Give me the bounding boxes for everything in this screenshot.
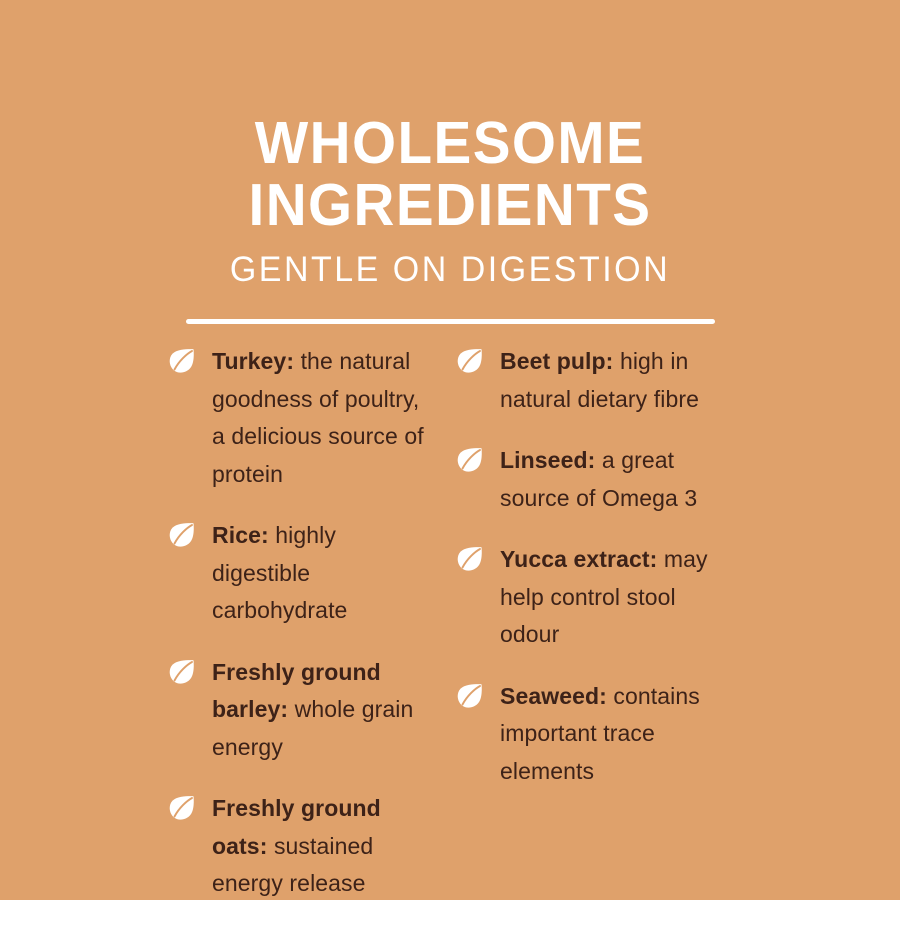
list-item-text: Turkey: the natural goodness of poultry,… bbox=[212, 343, 438, 493]
list-item: Seaweed: contains important trace elemen… bbox=[456, 678, 736, 791]
ingredients-column-right: Beet pulp: high in natural dietary fibre… bbox=[456, 343, 736, 814]
list-item: Freshly ground barley: whole grain energ… bbox=[168, 654, 438, 767]
list-item-text: Linseed: a great source of Omega 3 bbox=[500, 442, 736, 517]
ingredient-term: Rice: bbox=[212, 522, 269, 548]
list-item-text: Seaweed: contains important trace elemen… bbox=[500, 678, 736, 791]
list-item-text: Freshly ground barley: whole grain energ… bbox=[212, 654, 438, 767]
page-title-line-1: WHOLESOME bbox=[18, 112, 882, 174]
ingredient-term: Linseed: bbox=[500, 447, 595, 473]
ingredients-columns: Turkey: the natural goodness of poultry,… bbox=[0, 343, 900, 813]
list-item: Linseed: a great source of Omega 3 bbox=[456, 442, 736, 517]
wholesome-ingredients-poster: WHOLESOME INGREDIENTS GENTLE ON DIGESTIO… bbox=[0, 0, 900, 900]
poster-header: WHOLESOME INGREDIENTS GENTLE ON DIGESTIO… bbox=[0, 112, 900, 290]
list-item: Turkey: the natural goodness of poultry,… bbox=[168, 343, 438, 493]
leaf-icon bbox=[456, 545, 484, 573]
list-item-text: Freshly ground oats: sustained energy re… bbox=[212, 790, 438, 903]
page-title-line-2: INGREDIENTS bbox=[18, 174, 882, 236]
leaf-icon bbox=[168, 347, 196, 375]
list-item-text: Beet pulp: high in natural dietary fibre bbox=[500, 343, 736, 418]
leaf-icon bbox=[168, 794, 196, 822]
ingredient-term: Turkey: bbox=[212, 348, 294, 374]
ingredient-term: Beet pulp: bbox=[500, 348, 613, 374]
list-item: Rice: highly digestible carbohydrate bbox=[168, 517, 438, 630]
ingredient-term: Seaweed: bbox=[500, 683, 607, 709]
page-subtitle: GENTLE ON DIGESTION bbox=[14, 250, 887, 290]
list-item: Beet pulp: high in natural dietary fibre bbox=[456, 343, 736, 418]
list-item: Yucca extract: may help control stool od… bbox=[456, 541, 736, 654]
header-divider bbox=[186, 319, 715, 324]
leaf-icon bbox=[456, 682, 484, 710]
leaf-icon bbox=[168, 521, 196, 549]
list-item-text: Rice: highly digestible carbohydrate bbox=[212, 517, 438, 630]
leaf-icon bbox=[456, 446, 484, 474]
ingredient-term: Yucca extract: bbox=[500, 546, 657, 572]
leaf-icon bbox=[168, 658, 196, 686]
ingredients-column-left: Turkey: the natural goodness of poultry,… bbox=[168, 343, 438, 927]
leaf-icon bbox=[456, 347, 484, 375]
list-item: Freshly ground oats: sustained energy re… bbox=[168, 790, 438, 903]
list-item-text: Yucca extract: may help control stool od… bbox=[500, 541, 736, 654]
